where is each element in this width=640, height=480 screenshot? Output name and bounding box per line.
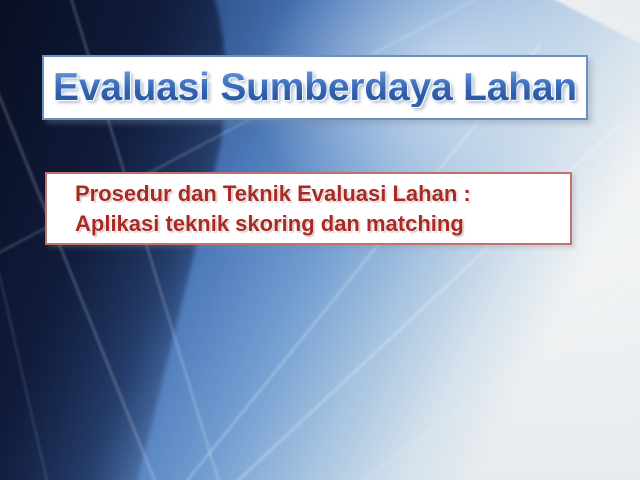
- presentation-slide: Evaluasi Sumberdaya Lahan Prosedur dan T…: [0, 0, 640, 480]
- slide-subtitle-line-2: Aplikasi teknik skoring dan matching: [75, 209, 464, 239]
- slide-title: Evaluasi Sumberdaya Lahan: [53, 68, 577, 107]
- slide-subtitle-line-1: Prosedur dan Teknik Evaluasi Lahan :: [75, 179, 471, 209]
- slide-title-box: Evaluasi Sumberdaya Lahan: [42, 55, 588, 120]
- slide-subtitle-box: Prosedur dan Teknik Evaluasi Lahan : Apl…: [45, 172, 572, 245]
